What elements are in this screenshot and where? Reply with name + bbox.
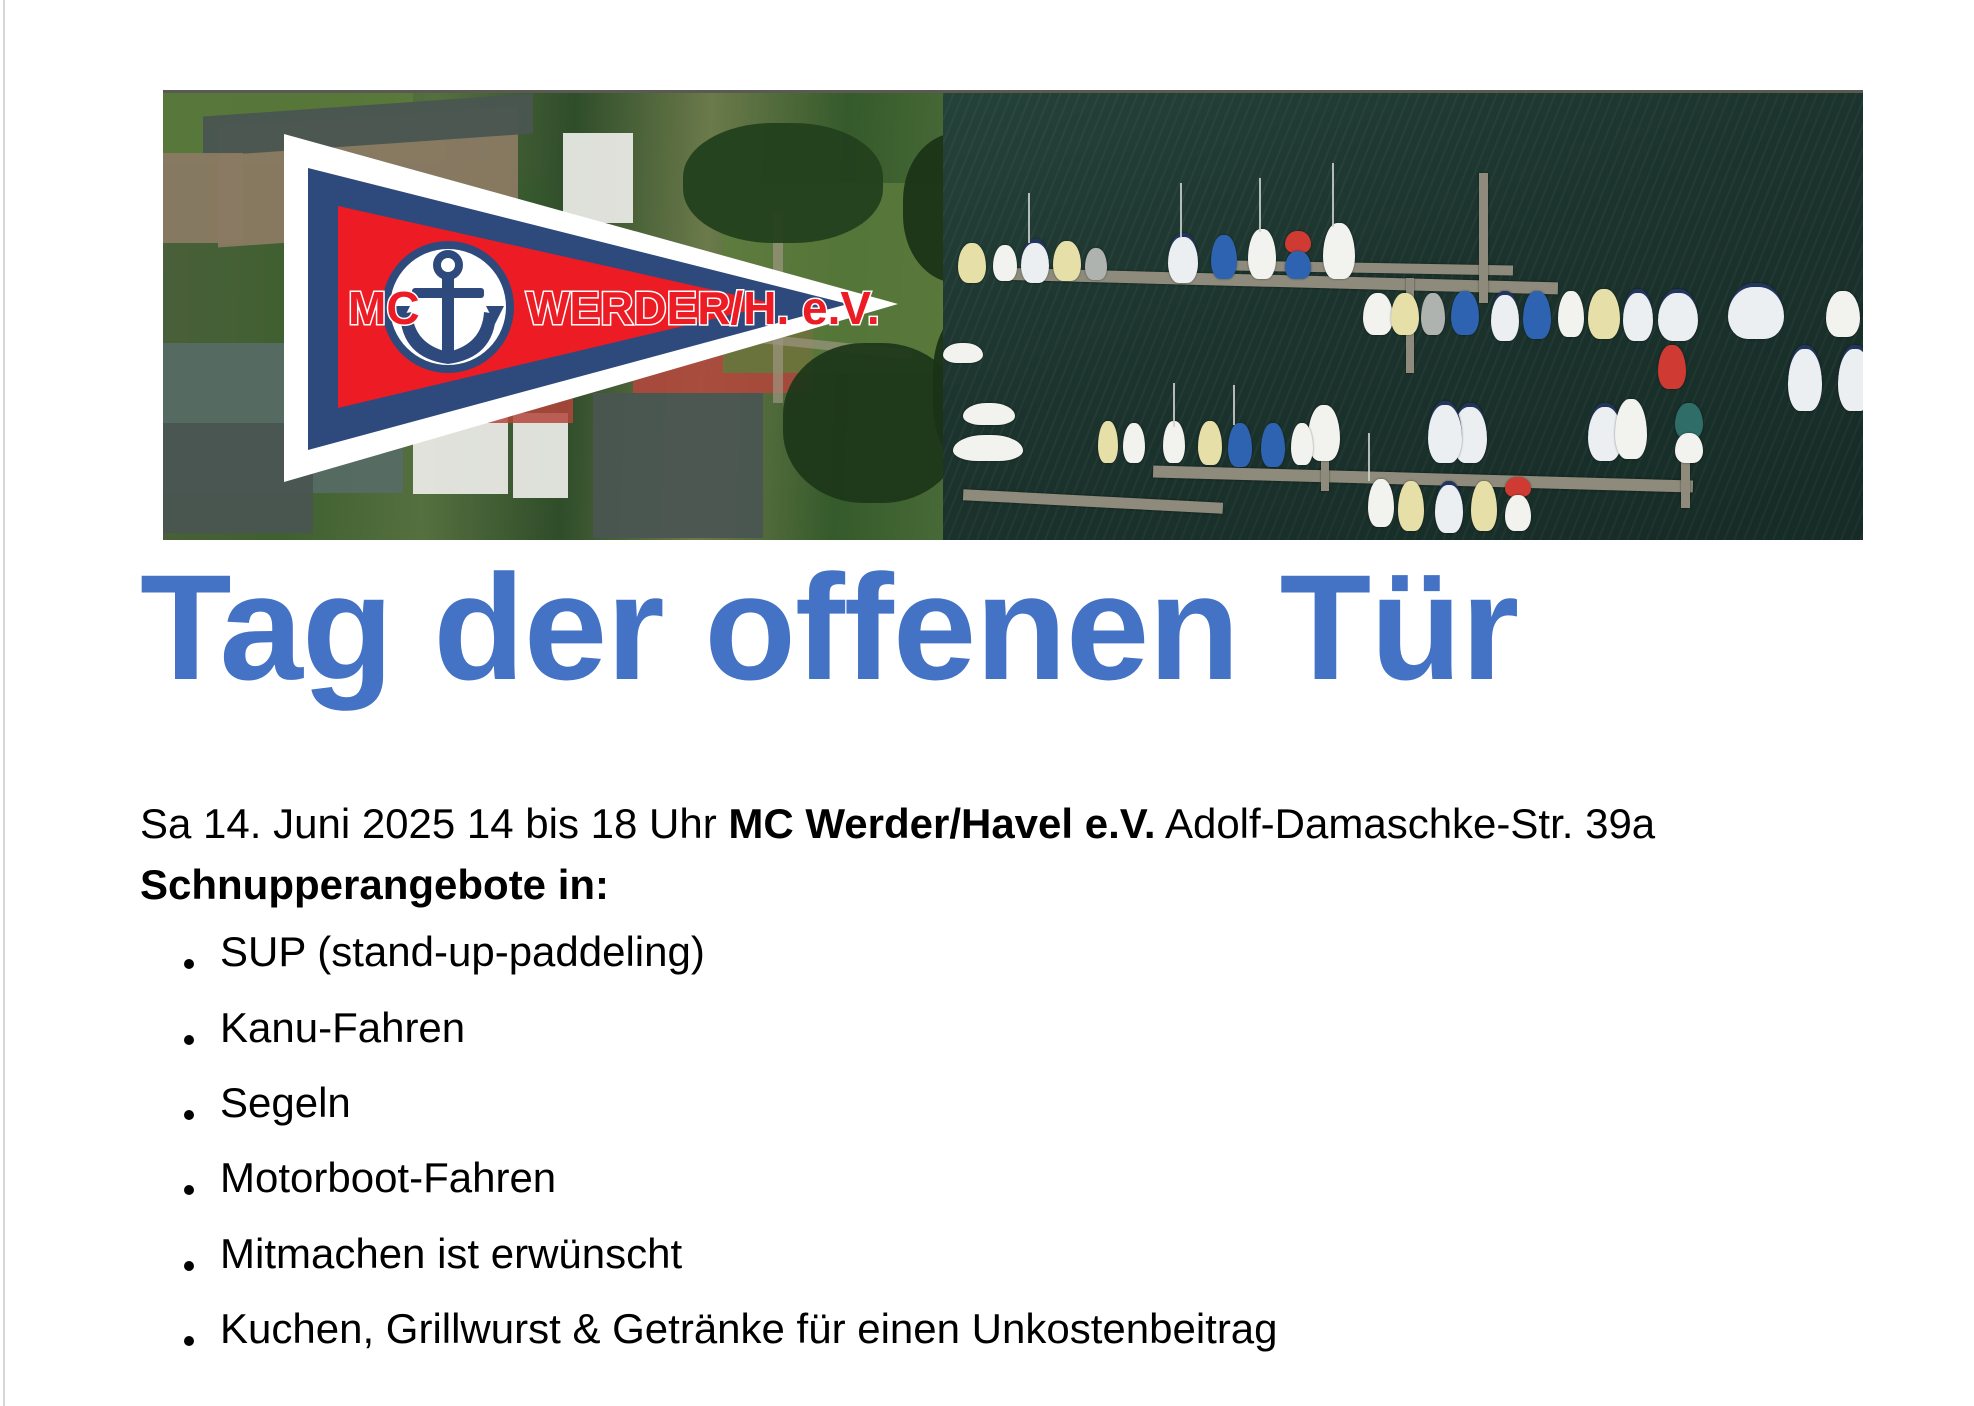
- photo-boat: [1658, 289, 1698, 341]
- photo-boat: [1163, 421, 1185, 463]
- photo-pier: [1479, 173, 1488, 303]
- photo-boat: [1228, 423, 1252, 467]
- bullet-dot-icon: [184, 1261, 194, 1271]
- photo-boat: [993, 245, 1017, 281]
- photo-boat: [1261, 423, 1285, 467]
- photo-boat: [1435, 481, 1463, 533]
- photo-boat: [1523, 291, 1551, 339]
- photo-boat: [1123, 423, 1145, 463]
- photo-boat: [1248, 229, 1276, 279]
- offers-list: SUP (stand-up-paddeling) Kanu-Fahren Seg…: [140, 929, 1940, 1351]
- photo-boat: [1391, 293, 1419, 335]
- photo-boat: [1623, 289, 1653, 341]
- list-item-label: Motorboot-Fahren: [220, 1154, 556, 1201]
- photo-boat: [1211, 235, 1237, 279]
- photo-boat: [943, 343, 983, 363]
- bullet-dot-icon: [184, 1110, 194, 1120]
- photo-boat: [1826, 291, 1860, 337]
- photo-boat: [1363, 293, 1393, 335]
- bullet-dot-icon: [184, 959, 194, 969]
- list-item: Kanu-Fahren: [140, 1005, 1940, 1050]
- list-item: Mitmachen ist erwünscht: [140, 1231, 1940, 1276]
- bullet-dot-icon: [184, 1185, 194, 1195]
- photo-mast: [1028, 193, 1030, 243]
- photo-boat: [1421, 293, 1445, 335]
- photo-boat: [1615, 399, 1647, 459]
- event-organizer: MC Werder/Havel e.V.: [728, 800, 1155, 847]
- page-left-edge: [3, 0, 5, 1406]
- photo-boat: [1788, 345, 1822, 411]
- photo-mast: [1173, 383, 1175, 427]
- photo-building: [163, 153, 243, 243]
- list-item-label: Segeln: [220, 1079, 351, 1126]
- photo-boat: [1308, 405, 1340, 461]
- list-item-label: SUP (stand-up-paddeling): [220, 928, 705, 975]
- list-item: Motorboot-Fahren: [140, 1155, 1940, 1200]
- photo-boat: [1658, 345, 1686, 389]
- photo-boat: [1728, 283, 1784, 339]
- photo-boat: [1053, 241, 1081, 281]
- photo-boat: [1491, 291, 1519, 341]
- photo-mast: [1180, 183, 1182, 237]
- offers-heading: Schnupperangebote in:: [140, 856, 1940, 913]
- photo-boat: [1428, 401, 1462, 463]
- list-item-label: Kanu-Fahren: [220, 1004, 465, 1051]
- photo-boat: [1323, 223, 1355, 279]
- photo-boat: [1675, 433, 1703, 463]
- photo-boat: [1368, 479, 1394, 527]
- photo-boat: [963, 403, 1015, 425]
- event-line-datetime-address: Sa 14. Juni 2025 14 bis 18 Uhr MC Werder…: [140, 795, 1940, 852]
- photo-boat: [1285, 251, 1311, 279]
- photo-boat: [1505, 495, 1531, 531]
- mc-werder-pennant: MC WERDER/H. e.V.: [276, 108, 906, 508]
- photo-boat: [1398, 481, 1424, 531]
- list-item: SUP (stand-up-paddeling): [140, 929, 1940, 974]
- photo-boat: [1021, 239, 1049, 283]
- list-item: Kuchen, Grillwurst & Getränke für einen …: [140, 1306, 1940, 1351]
- photo-boat: [1471, 481, 1497, 531]
- photo-boat: [1085, 248, 1107, 280]
- event-details: Sa 14. Juni 2025 14 bis 18 Uhr MC Werder…: [140, 795, 1940, 1381]
- event-datetime: Sa 14. Juni 2025 14 bis 18 Uhr: [140, 800, 728, 847]
- hero-photo-frame: MC WERDER/H. e.V.: [163, 90, 1863, 540]
- photo-boat: [1558, 291, 1584, 337]
- photo-mast: [1259, 178, 1261, 232]
- photo-boat: [1285, 231, 1311, 253]
- list-item-label: Mitmachen ist erwünscht: [220, 1230, 682, 1277]
- photo-boat: [1291, 423, 1313, 465]
- photo-boat: [1168, 233, 1198, 283]
- photo-mast: [1368, 433, 1370, 481]
- bullet-dot-icon: [184, 1035, 194, 1045]
- list-item: Segeln: [140, 1080, 1940, 1125]
- bullet-dot-icon: [184, 1336, 194, 1346]
- pennant-text-right: WERDER/H. e.V.: [526, 282, 880, 334]
- photo-boat: [1098, 421, 1118, 463]
- photo-boat: [1451, 291, 1479, 335]
- list-item-label: Kuchen, Grillwurst & Getränke für einen …: [220, 1305, 1278, 1352]
- event-address: Adolf-Damaschke-Str. 39a: [1156, 800, 1656, 847]
- photo-boat: [953, 435, 1023, 461]
- photo-boat: [1505, 477, 1531, 497]
- pennant-text-left: MC: [348, 282, 420, 334]
- photo-mast: [1332, 163, 1334, 227]
- photo-boat: [1588, 289, 1620, 339]
- photo-boat: [958, 243, 986, 283]
- page-title: Tag der offenen Tür: [140, 552, 1940, 702]
- photo-boat: [1198, 421, 1222, 465]
- photo-mast: [1233, 385, 1235, 425]
